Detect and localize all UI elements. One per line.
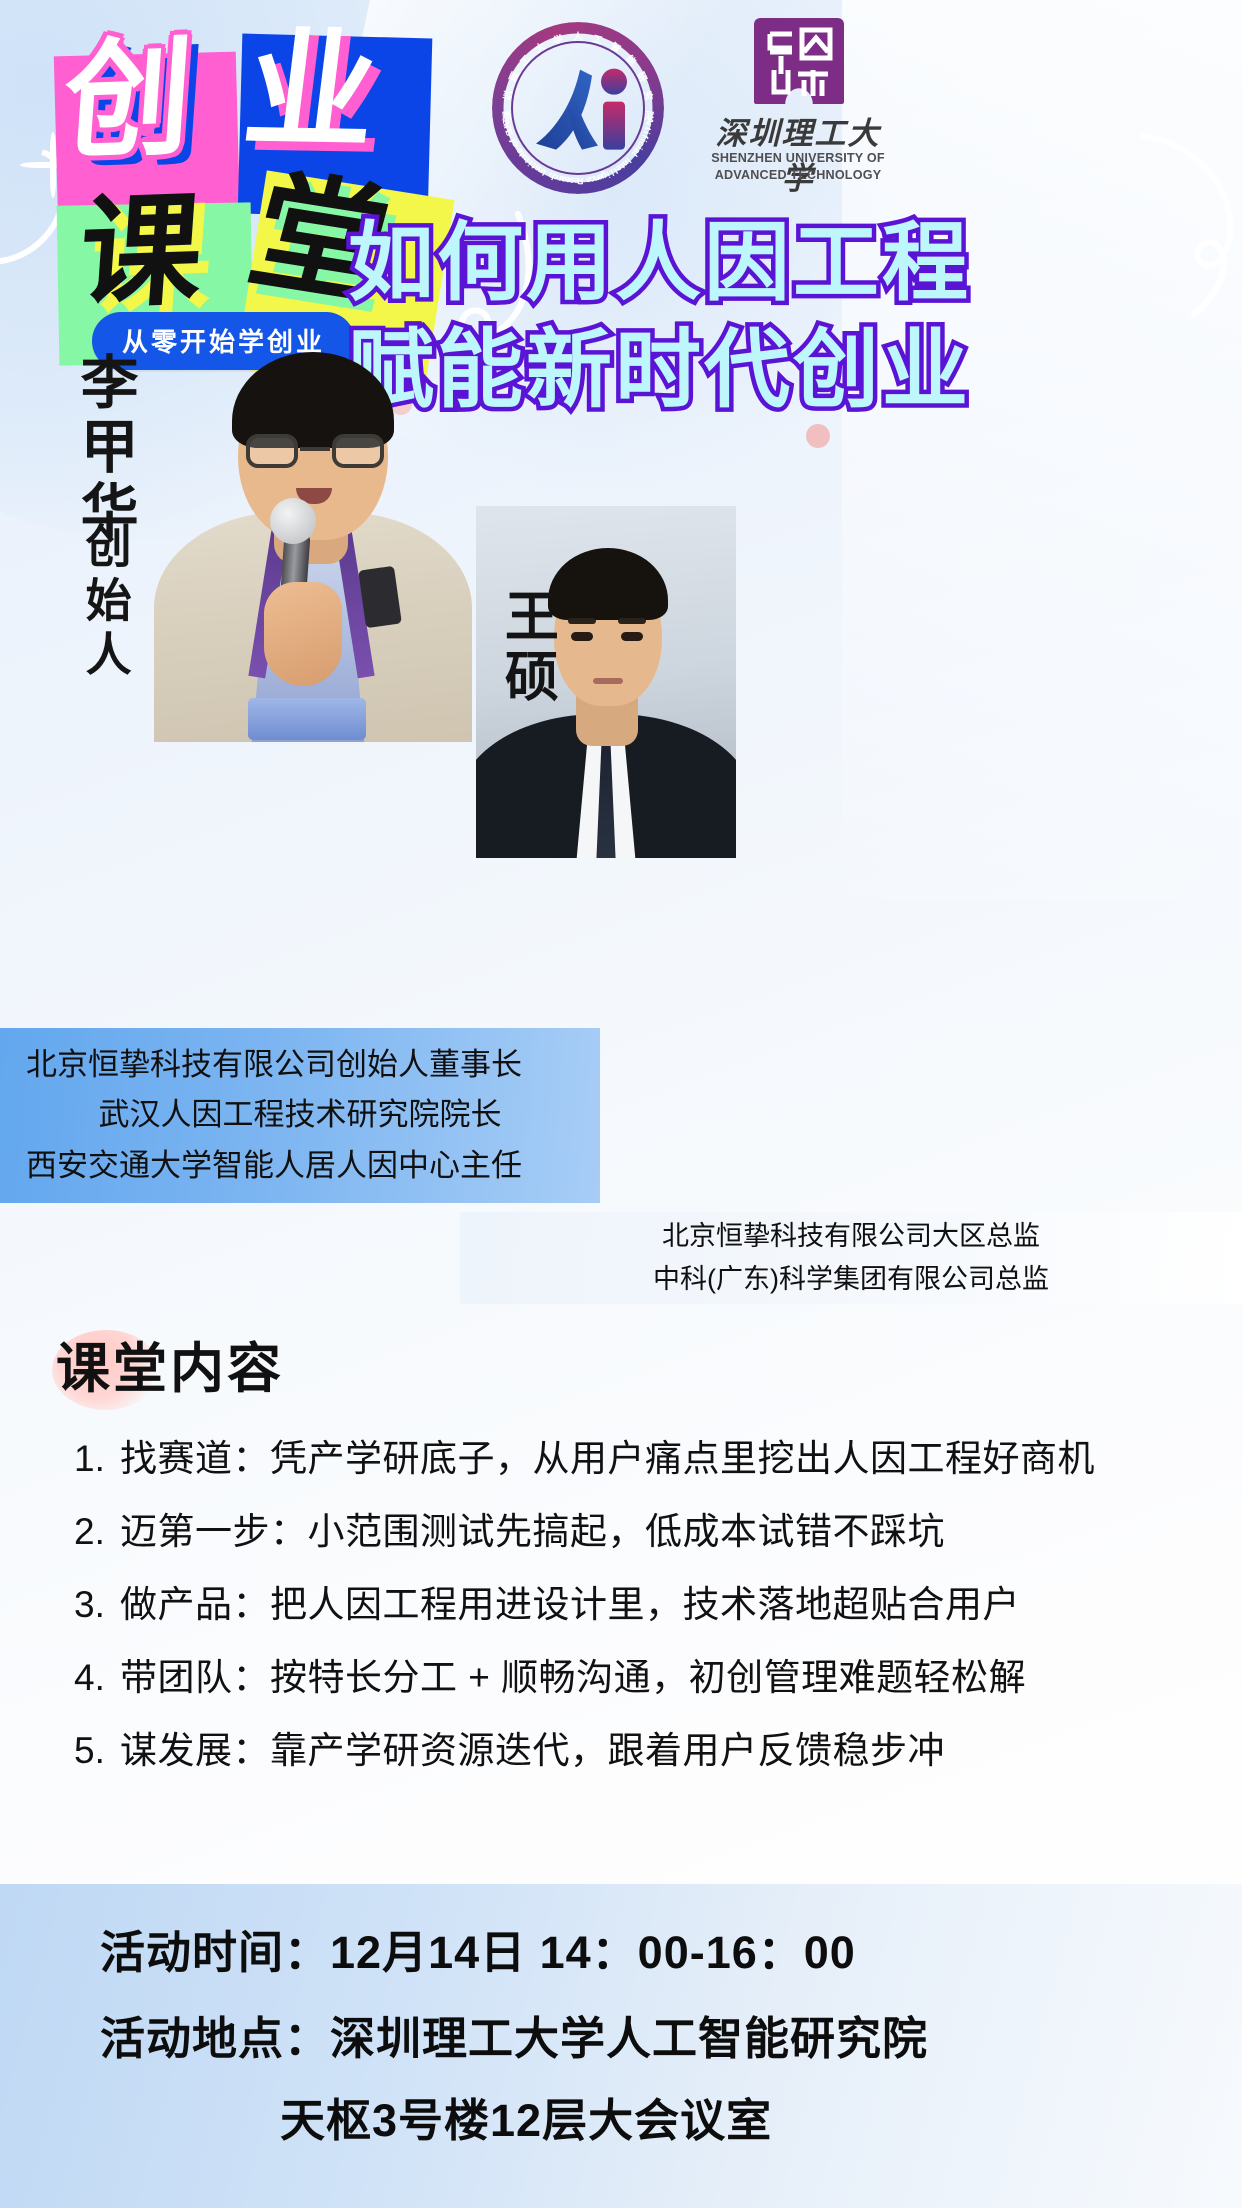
list-item-number: 4. [74, 1659, 120, 1696]
list-item: 2. 迈第一步：小范围测试先搞起，低成本试错不踩坑 [74, 1513, 1184, 1550]
list-item-text: 带团队：按特长分工 + 顺畅沟通，初创管理难题轻松解 [120, 1659, 1026, 1696]
background-sheet [842, 0, 1242, 900]
list-item-text: 找赛道：凭产学研底子，从用户痛点里挖出人因工程好商机 [120, 1440, 1095, 1477]
list-item: 1. 找赛道：凭产学研底子，从用户痛点里挖出人因工程好商机 [74, 1440, 1184, 1477]
glasses-bridge [300, 447, 330, 451]
logo-word-ke: 课 [76, 194, 206, 311]
speaker-2-eye [571, 632, 593, 641]
speaker-1-credential-2: 武汉人因工程技术研究院院长 [26, 1090, 574, 1140]
decorative-dot [806, 424, 830, 448]
speaker-1-photo [120, 330, 500, 742]
glasses-lens-right [332, 434, 384, 468]
list-item-number: 5. [74, 1732, 120, 1769]
speaker-2-eye [621, 632, 643, 641]
speaker-2-name: 王硕 [496, 588, 555, 708]
list-item: 5. 谋发展：靠产学研资源迭代，跟着用户反馈稳步冲 [74, 1732, 1184, 1769]
content-heading: 课堂内容 [56, 1324, 284, 1403]
microphone-head-icon [270, 498, 316, 544]
event-place-row: 活动地点：深圳理工大学人工智能研究院 [100, 2016, 1242, 2062]
university-emblem-glyph-icon [754, 18, 844, 104]
event-time-label: 活动时间： [100, 1927, 330, 1978]
organization-logos: 深圳理工大学人工智能研究院 Artificial Intelligence Re… [492, 16, 892, 196]
list-item-number: 1. [74, 1440, 120, 1477]
event-details-panel: 活动时间：12月14日 14：00-16：00 活动地点：深圳理工大学人工智能研… [0, 1884, 1242, 2208]
speaker-1-credential-1: 北京恒挚科技有限公司创始人董事长 [26, 1040, 574, 1090]
speaker-2-credential-1: 北京恒挚科技有限公司大区总监 [662, 1215, 1040, 1258]
event-place-value: 深圳理工大学人工智能研究院 [330, 2013, 928, 2064]
list-item-number: 2. [74, 1513, 120, 1550]
content-heading-wrap: 课堂内容 [56, 1324, 284, 1403]
poster-canvas: 创 业 课 堂 从零开始学创业 深圳理工大学人工智能研究院 Artificial… [0, 0, 1242, 2208]
event-place-label: 活动地点： [100, 2013, 330, 2064]
speaker-2-credentials-panel: 北京恒挚科技有限公司大区总监 中科(广东)科学集团有限公司总监 [460, 1212, 1242, 1304]
ai-institute-logo: 深圳理工大学人工智能研究院 Artificial Intelligence Re… [492, 22, 664, 194]
content-list: 1. 找赛道：凭产学研底子，从用户痛点里挖出人因工程好商机 2. 迈第一步：小范… [74, 1440, 1184, 1805]
university-en-line2: ADVANCED TECHNOLOGY [700, 167, 896, 184]
speaker-1-credential-3: 西安交通大学智能人居人因中心主任 [26, 1141, 574, 1191]
list-item-number: 3. [74, 1586, 120, 1623]
list-item: 3. 做产品：把人因工程用进设计里，技术落地超贴合用户 [74, 1586, 1184, 1623]
university-en-name: SHENZHEN UNIVERSITY OF ADVANCED TECHNOLO… [700, 150, 896, 183]
speaker-1-id-card [248, 698, 366, 740]
event-place-row-2: 天枢3号楼12层大会议室 [280, 2098, 1242, 2144]
speaker-2-eyebrow [568, 618, 596, 624]
event-time-row: 活动时间：12月14日 14：00-16：00 [100, 1930, 1242, 1976]
speaker-1-credentials-panel: 北京恒挚科技有限公司创始人董事长 武汉人因工程技术研究院院长 西安交通大学智能人… [0, 1028, 600, 1203]
glasses-icon [244, 434, 386, 468]
speaker-2-mouth [593, 678, 623, 684]
speaker-1-name: 李甲华 [72, 352, 135, 544]
list-item: 4. 带团队：按特长分工 + 顺畅沟通，初创管理难题轻松解 [74, 1659, 1184, 1696]
event-time-value: 12月14日 14：00-16：00 [330, 1927, 856, 1978]
glasses-lens-left [246, 434, 298, 468]
list-item-text: 谋发展：靠产学研资源迭代，跟着用户反馈稳步冲 [120, 1732, 945, 1769]
speaker-2-credential-2: 中科(广东)科学集团有限公司总监 [653, 1258, 1049, 1301]
headline-line1: 如何用人因工程 [348, 215, 971, 311]
speaker-1-hand [264, 582, 342, 686]
speaker-1-role: 创始人 [80, 522, 131, 684]
ai-monogram-icon [526, 68, 630, 152]
list-item-text: 迈第一步：小范围测试先搞起，低成本试错不踩坑 [120, 1513, 945, 1550]
university-en-line1: SHENZHEN UNIVERSITY OF [700, 150, 896, 167]
list-item-text: 做产品：把人因工程用进设计里，技术落地超贴合用户 [120, 1586, 1020, 1623]
speaker-2-eyebrow [618, 618, 646, 624]
logo-word-chuang: 创 [60, 40, 196, 163]
logo-word-ye: 业 [239, 31, 384, 153]
university-logo: 深圳理工大学 SHENZHEN UNIVERSITY OF ADVANCED T… [700, 16, 896, 196]
